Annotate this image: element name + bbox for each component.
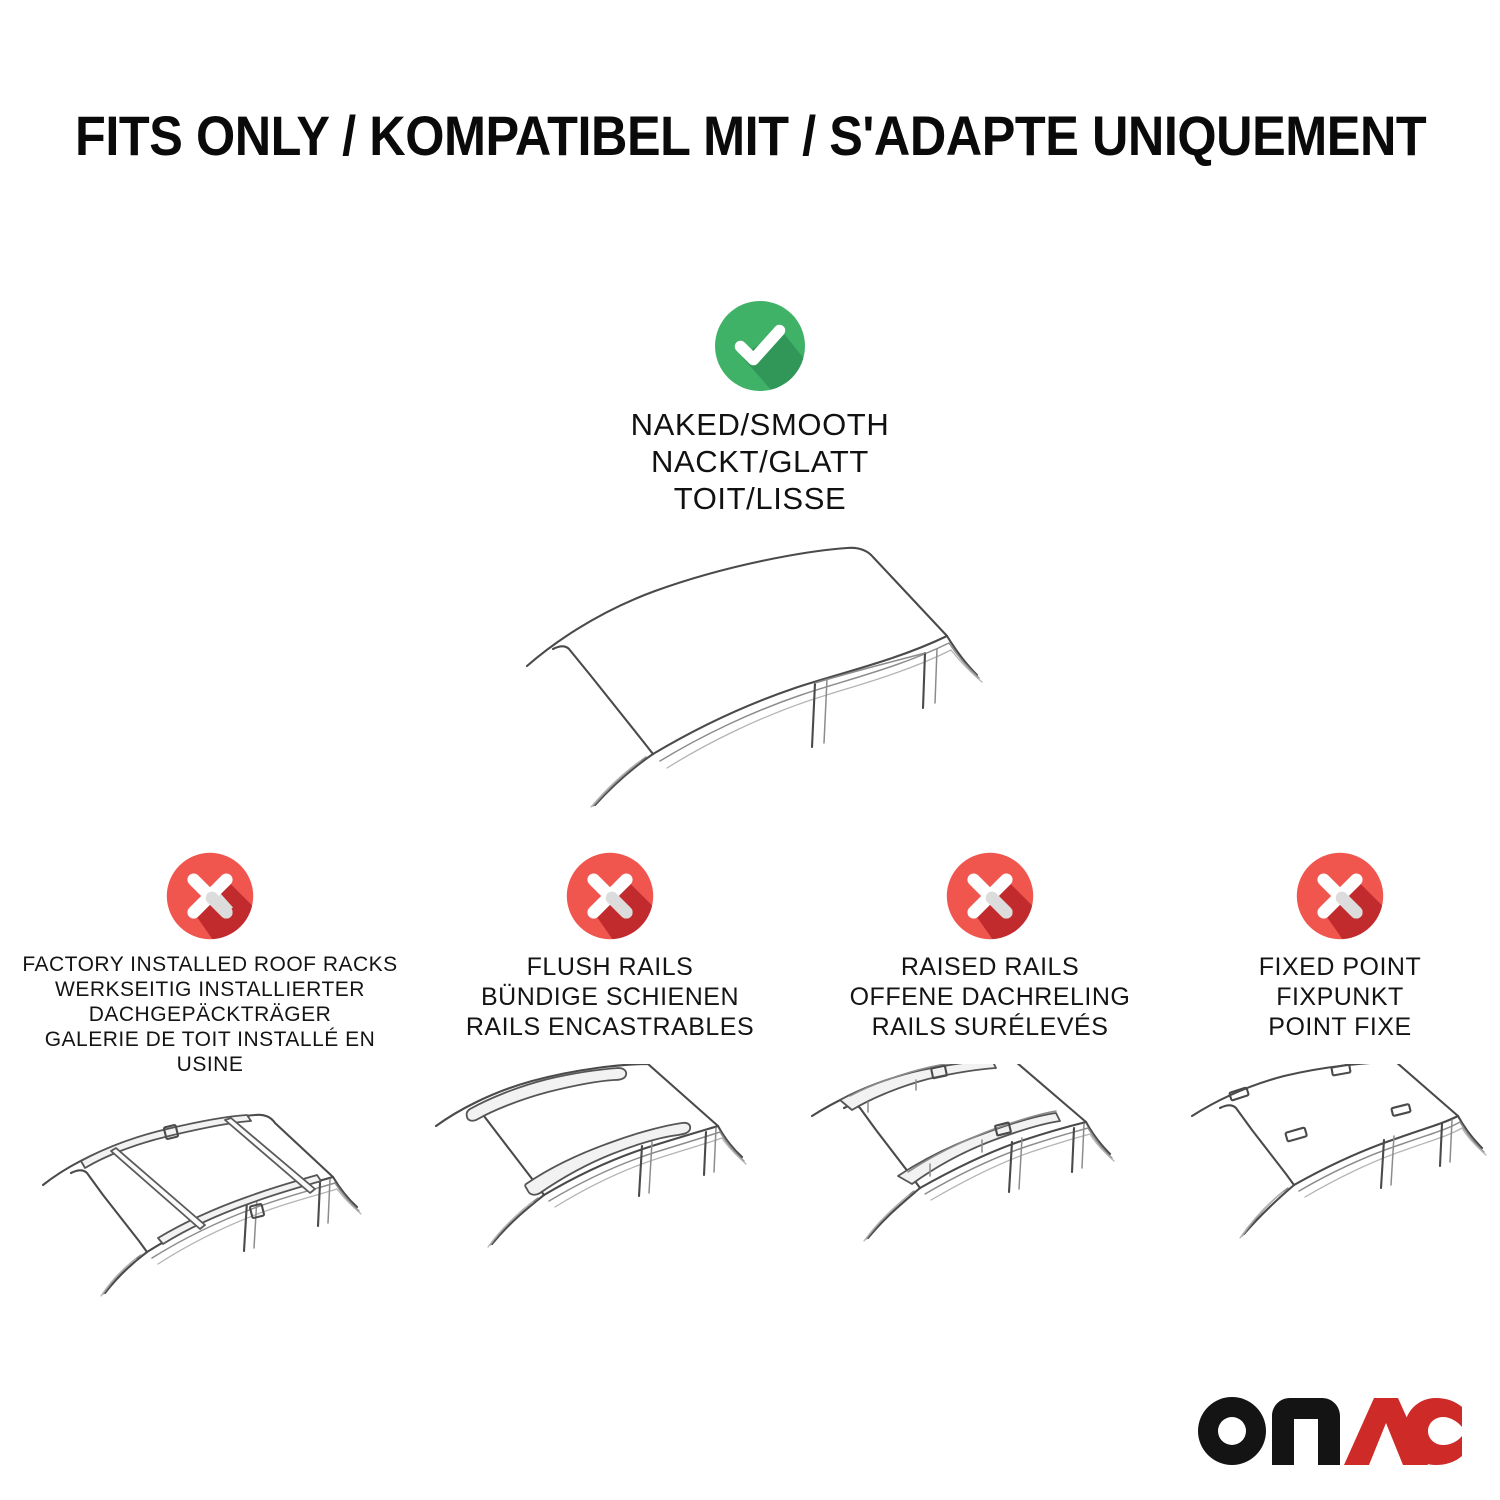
incompatible-item-factory-roof-racks: FACTORY INSTALLED ROOF RACKS WERKSEITIG …	[0, 848, 420, 1308]
incompatible-caption-factory-roof-racks: FACTORY INSTALLED ROOF RACKS WERKSEITIG …	[10, 952, 410, 1077]
caption-line-4: GALERIE DE TOIT INSTALLÉ EN USINE	[10, 1027, 410, 1077]
caption-line-1: FLUSH RAILS	[426, 952, 794, 982]
incompatible-caption-fixed-point: FIXED POINT FIXPUNKT POINT FIXE	[1186, 952, 1494, 1042]
x-circle-icon	[1292, 848, 1388, 944]
car-roof-factory-installed-roof-racks-illustration	[15, 1093, 405, 1308]
logo-letter-o	[1198, 1397, 1266, 1465]
caption-line-1: NAKED/SMOOTH	[455, 406, 1065, 443]
caption-line-3: TOIT/LISSE	[455, 480, 1065, 517]
caption-line-3: RAILS ENCASTRABLES	[426, 1012, 794, 1042]
omac-logo	[1194, 1392, 1462, 1470]
caption-line-3: POINT FIXE	[1186, 1012, 1494, 1042]
x-circle-icon	[562, 848, 658, 944]
caption-line-2: NACKT/GLATT	[455, 443, 1065, 480]
x-circle-icon	[162, 848, 258, 944]
incompatible-caption-raised-rails: RAISED RAILS OFFENE DACHRELING RAILS SUR…	[806, 952, 1174, 1042]
logo-letter-m	[1272, 1398, 1340, 1465]
car-roof-naked-smooth-illustration	[455, 533, 1065, 808]
incompatible-item-fixed-point: FIXED POINT FIXPUNKT POINT FIXE	[1180, 848, 1500, 1279]
car-roof-flush-rails-illustration	[426, 1064, 796, 1279]
compatible-block: NAKED/SMOOTH NACKT/GLATT TOIT/LISSE	[455, 296, 1065, 808]
incompatible-item-flush-rails: FLUSH RAILS BÜNDIGE SCHIENEN RAILS ENCAS…	[420, 848, 800, 1279]
car-roof-raised-rails-illustration	[806, 1064, 1176, 1279]
caption-line-1: RAISED RAILS	[806, 952, 1174, 982]
caption-line-2: FIXPUNKT	[1186, 982, 1494, 1012]
car-roof-fixed-point-illustration	[1186, 1064, 1496, 1279]
caption-line-3: DACHGEPÄCKTRÄGER	[10, 1002, 410, 1027]
caption-line-1: FIXED POINT	[1186, 952, 1494, 982]
caption-line-2: WERKSEITIG INSTALLIERTER	[10, 977, 410, 1002]
page-title: FITS ONLY / KOMPATIBEL MIT / S'ADAPTE UN…	[75, 104, 1425, 168]
caption-line-1: FACTORY INSTALLED ROOF RACKS	[10, 952, 410, 977]
x-circle-icon	[942, 848, 1038, 944]
caption-line-2: BÜNDIGE SCHIENEN	[426, 982, 794, 1012]
incompatible-item-raised-rails: RAISED RAILS OFFENE DACHRELING RAILS SUR…	[800, 848, 1180, 1279]
incompatible-caption-flush-rails: FLUSH RAILS BÜNDIGE SCHIENEN RAILS ENCAS…	[426, 952, 794, 1042]
caption-line-3: RAILS SURÉLEVÉS	[806, 1012, 1174, 1042]
infographic-page: FITS ONLY / KOMPATIBEL MIT / S'ADAPTE UN…	[0, 0, 1500, 1500]
caption-line-2: OFFENE DACHRELING	[806, 982, 1174, 1012]
compatible-caption: NAKED/SMOOTH NACKT/GLATT TOIT/LISSE	[455, 406, 1065, 517]
incompatible-row: FACTORY INSTALLED ROOF RACKS WERKSEITIG …	[0, 848, 1500, 1308]
check-circle-icon	[710, 296, 810, 396]
